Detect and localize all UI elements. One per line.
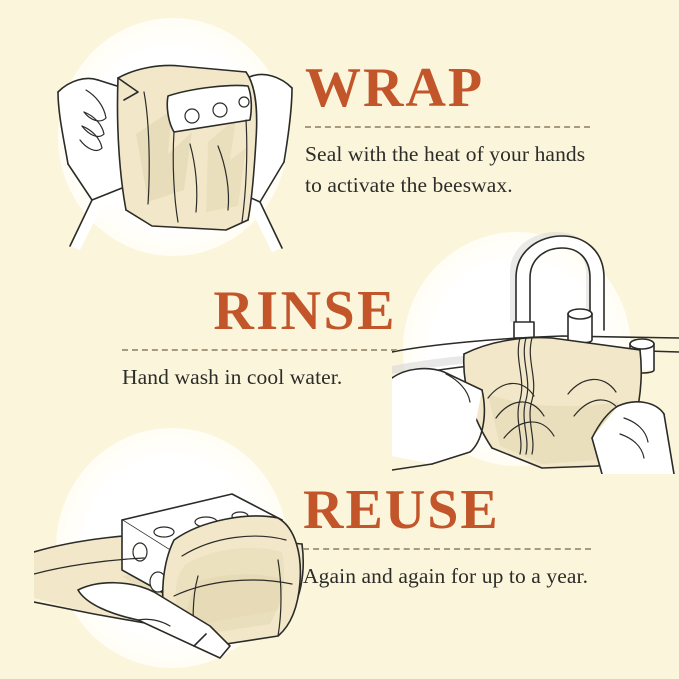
hands-wrapping-sandwich-illustration (40, 14, 308, 264)
cheese-block-wrapped-with-knife-illustration (34, 424, 310, 674)
rinse-heading: RINSE (122, 283, 397, 340)
reuse-divider (303, 548, 591, 550)
wrap-body-text: Seal with the heat of your hands to acti… (305, 139, 590, 200)
reuse-heading: REUSE (303, 482, 591, 539)
step-wrap-text-block: WRAP Seal with the heat of your hands to… (305, 60, 590, 200)
rinse-body-text: Hand wash in cool water. (122, 362, 397, 393)
step-reuse-text-block: REUSE Again and again for up to a year. (303, 482, 591, 592)
step-rinse-text-block: RINSE Hand wash in cool water. (122, 283, 397, 393)
rinse-divider (122, 349, 397, 351)
wrap-heading: WRAP (305, 60, 590, 117)
wrap-divider (305, 126, 590, 128)
hands-rinsing-wrap-under-faucet-illustration (392, 226, 679, 474)
reuse-body-text: Again and again for up to a year. (303, 561, 591, 592)
infographic-page: WRAP Seal with the heat of your hands to… (0, 0, 679, 679)
